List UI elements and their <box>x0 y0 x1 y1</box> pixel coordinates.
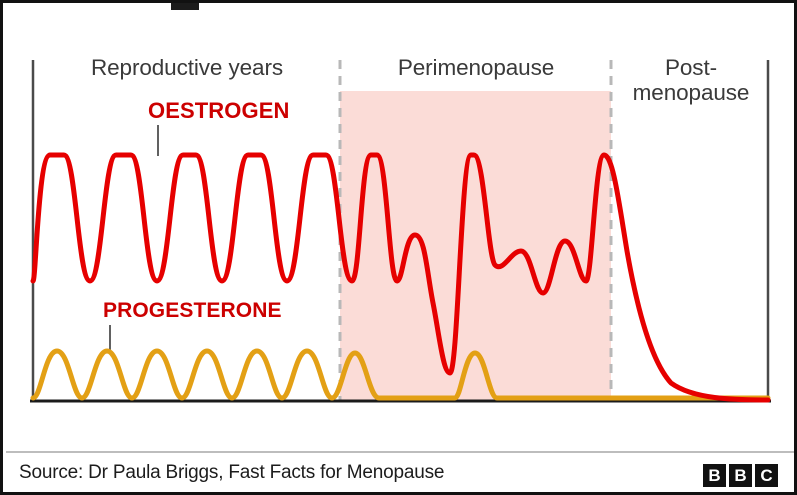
phase-label-post-menopause: Post- menopause <box>615 55 767 105</box>
bbc-logo: B B C <box>703 464 778 487</box>
series-label-oestrogen: OESTROGEN <box>148 98 289 124</box>
chart-figure: Reproductive years Perimenopause Post- m… <box>0 0 797 495</box>
bbc-logo-block-3: C <box>755 464 778 487</box>
phase-label-perimenopause: Perimenopause <box>343 55 609 80</box>
series-label-progesterone: PROGESTERONE <box>103 299 282 323</box>
footer-divider <box>6 451 797 453</box>
bbc-logo-block-1: B <box>703 464 726 487</box>
phase-label-reproductive-years: Reproductive years <box>39 55 335 80</box>
bbc-logo-block-2: B <box>729 464 752 487</box>
source-attribution: Source: Dr Paula Briggs, Fast Facts for … <box>19 462 444 484</box>
